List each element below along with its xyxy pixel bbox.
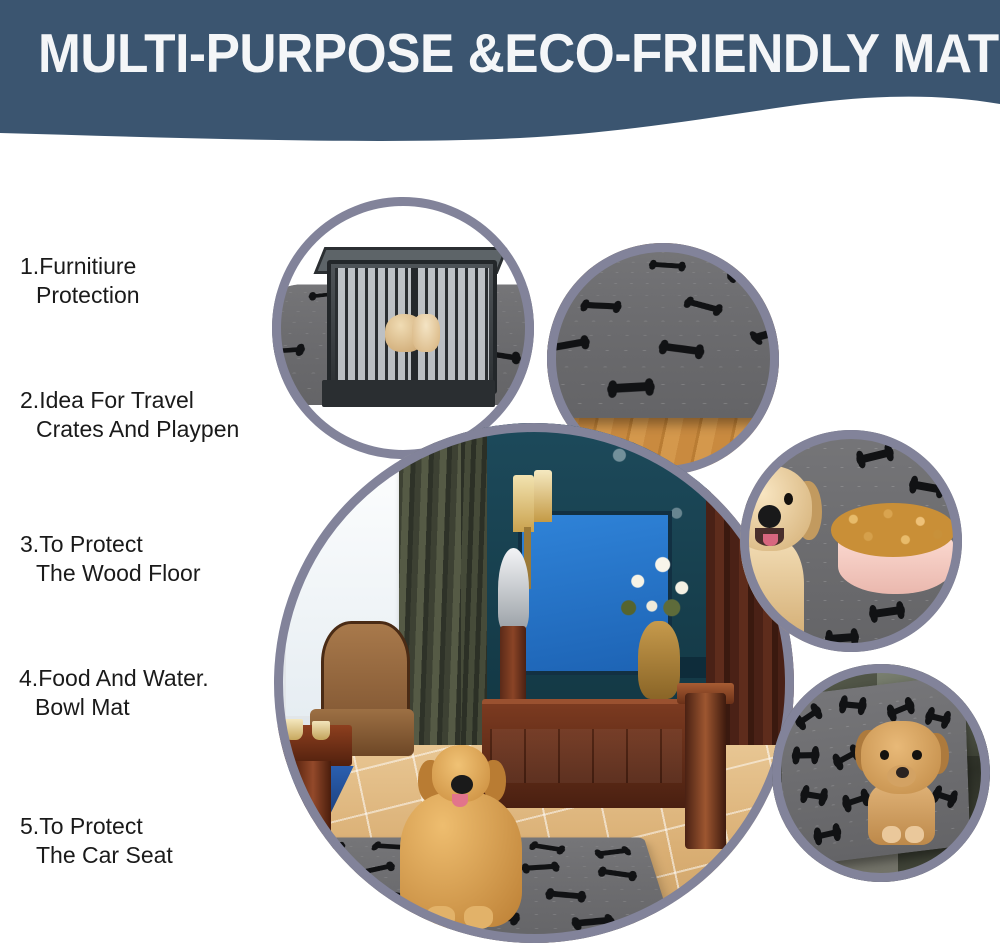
coffee-table-leg (295, 761, 331, 834)
circle-photo-puppy-on-car-seat-mat (772, 664, 990, 882)
flower-vase (638, 621, 680, 699)
puppy-paw-left (882, 826, 901, 843)
crate-body (327, 260, 497, 394)
curtain-secondary (461, 423, 487, 745)
crate-base-tray (322, 380, 495, 406)
retriever-nose (451, 775, 473, 794)
golden-retriever-on-mat (388, 745, 534, 932)
crate-dog-rear (412, 314, 440, 352)
golden-retriever-head (740, 466, 838, 652)
circle-photo-dog-with-food-bowl (740, 430, 962, 652)
food-bowl-scene (740, 430, 962, 652)
bust-statue (498, 548, 529, 631)
puppy-paw-right (905, 826, 924, 843)
table-cup-2 (312, 721, 330, 740)
bowl-dog-tongue (763, 534, 778, 546)
retriever-paw-right (464, 906, 493, 928)
car-seat-scene (772, 664, 990, 882)
decorative-pillar (685, 693, 727, 849)
puppy-nose (896, 767, 908, 778)
circle-photo-living-room-with-dog (274, 423, 794, 943)
wall-sconce-right (534, 470, 552, 522)
living-room-scene (274, 423, 794, 943)
kibble-pile (831, 503, 955, 556)
infographic-page: MULTI-PURPOSE &ECO-FRIENDLY MAT 1.Furnit… (0, 0, 1000, 946)
bowl-dog-nose (758, 505, 781, 528)
table-cup-1 (284, 719, 303, 740)
retriever-paw-left (426, 906, 455, 928)
photo-collage (0, 0, 1000, 946)
bowl-dog-eye-left (742, 495, 751, 507)
wall-sconce-left (513, 475, 534, 532)
bowl-dog-body (740, 540, 804, 652)
wood-scene-mat (547, 243, 779, 418)
bowl-dog-eye-right (784, 493, 793, 505)
puppy-eye-left (880, 750, 890, 760)
puppy-eye-right (912, 750, 922, 760)
crate-scene (272, 197, 534, 459)
flower-arrangement (617, 548, 700, 631)
retriever-body (400, 792, 522, 927)
circle-photo-dog-crate-on-mat (272, 197, 534, 459)
bulldog-puppy (855, 721, 951, 843)
